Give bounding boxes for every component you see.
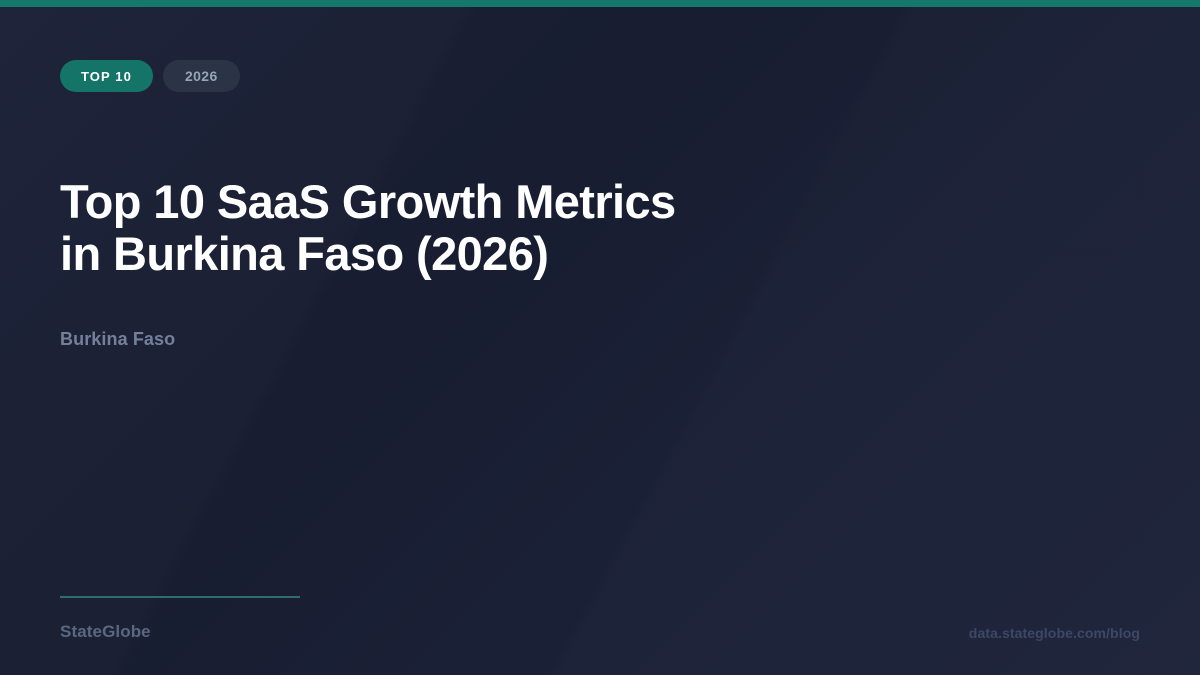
footer-divider bbox=[60, 596, 300, 598]
badge-top-10[interactable]: TOP 10 bbox=[60, 60, 153, 92]
subtitle-region: Burkina Faso bbox=[60, 329, 175, 350]
page-title: Top 10 SaaS Growth Metrics in Burkina Fa… bbox=[60, 176, 820, 280]
top-accent-bar bbox=[0, 0, 1200, 7]
source-url: data.stateglobe.com/blog bbox=[969, 625, 1140, 641]
brand-name: StateGlobe bbox=[60, 622, 151, 642]
badge-year[interactable]: 2026 bbox=[163, 60, 240, 92]
page-title-line-2: in Burkina Faso (2026) bbox=[60, 228, 820, 280]
title-slide: TOP 10 2026 Top 10 SaaS Growth Metrics i… bbox=[0, 0, 1200, 675]
page-title-line-1: Top 10 SaaS Growth Metrics bbox=[60, 176, 820, 228]
badge-group: TOP 10 2026 bbox=[60, 60, 240, 92]
